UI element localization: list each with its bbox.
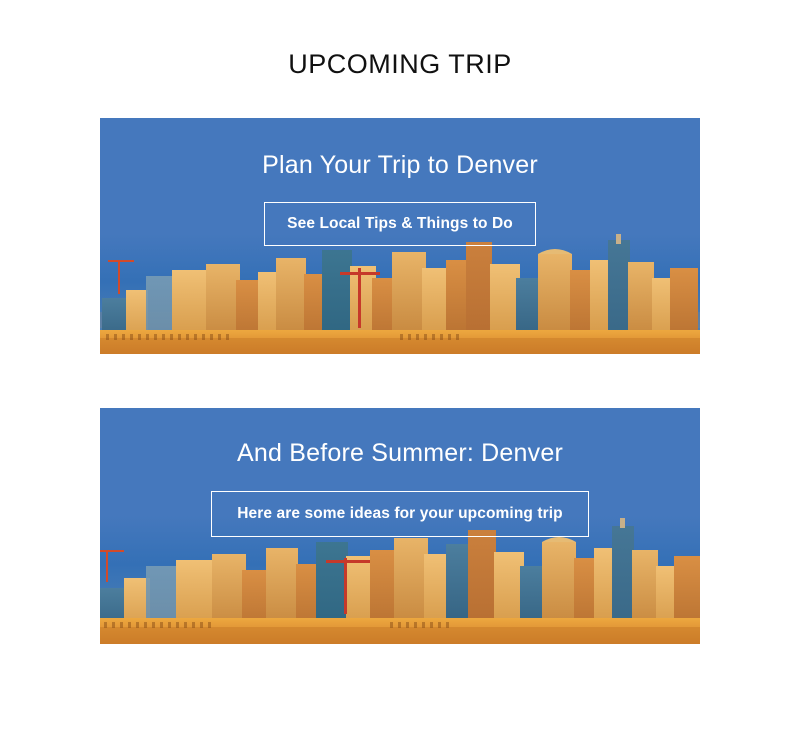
trip-banner-secondary[interactable]: And Before Summer: Denver Here are some … — [100, 408, 700, 644]
denver-skyline-image — [100, 234, 700, 354]
trip-banner-primary[interactable]: Plan Your Trip to Denver See Local Tips … — [100, 118, 700, 354]
banner-inner: Plan Your Trip to Denver See Local Tips … — [100, 118, 700, 354]
banner-copy: And Before Summer: Denver Here are some … — [100, 408, 700, 537]
banner-copy: Plan Your Trip to Denver See Local Tips … — [100, 118, 700, 246]
upcoming-trip-ideas-button[interactable]: Here are some ideas for your upcoming tr… — [211, 491, 588, 538]
banner-heading: Plan Your Trip to Denver — [100, 118, 700, 180]
page-title: UPCOMING TRIP — [0, 49, 800, 80]
see-local-tips-button[interactable]: See Local Tips & Things to Do — [264, 202, 536, 247]
banner-inner: And Before Summer: Denver Here are some … — [100, 408, 700, 644]
page-root: UPCOMING TRIP — [0, 0, 800, 735]
banner-heading: And Before Summer: Denver — [100, 408, 700, 468]
